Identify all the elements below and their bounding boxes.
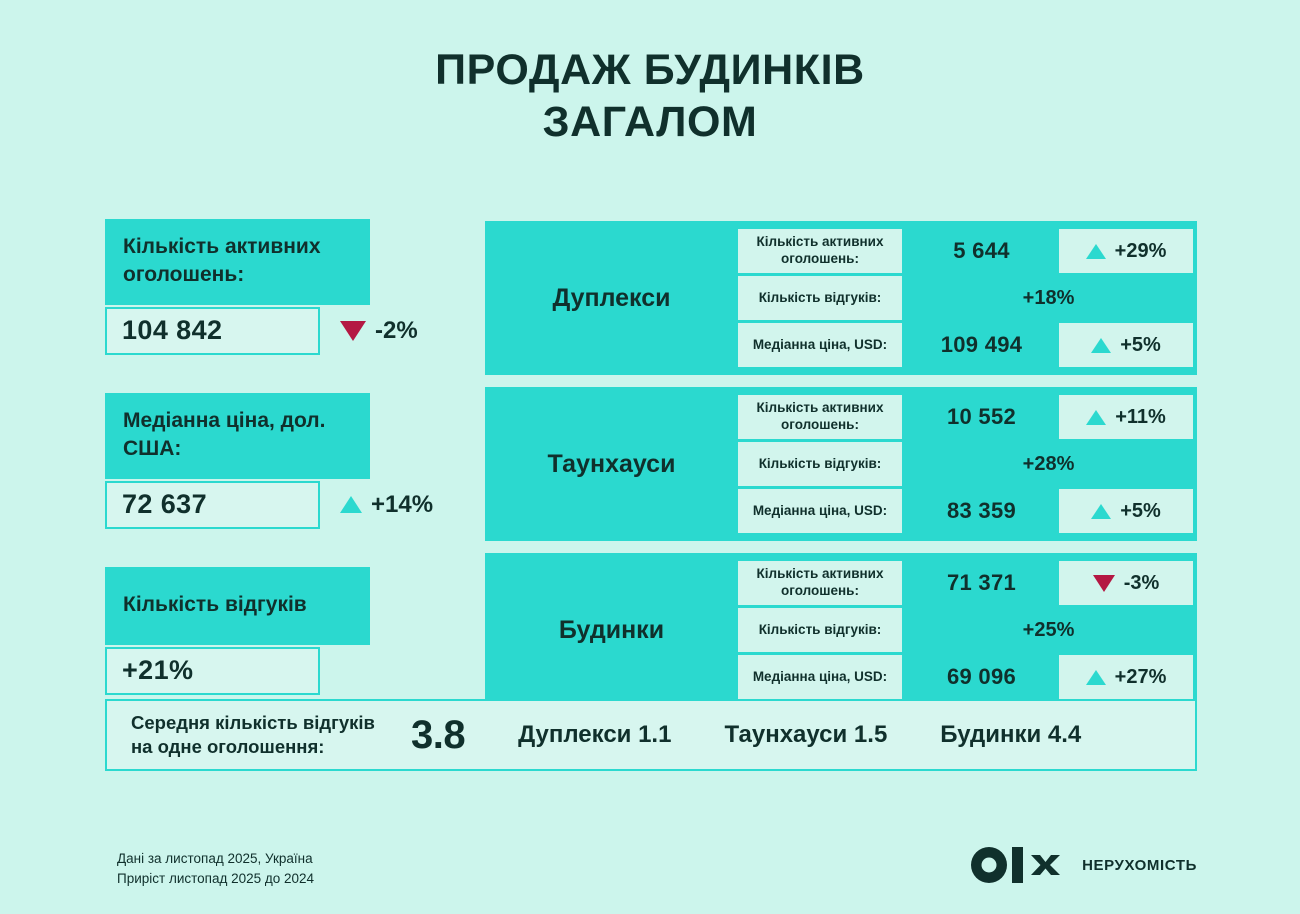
row-value: +18% — [904, 276, 1193, 320]
olx-logo-word: НЕРУХОМІСТЬ — [1082, 857, 1197, 874]
olx-logo-icon — [969, 845, 1069, 885]
table-row: Кількість відгуків: +25% — [738, 608, 1193, 652]
arrow-up-icon — [1091, 504, 1111, 519]
row-label: Кількість активних оголошень: — [738, 395, 902, 439]
row-delta-label: +29% — [1115, 240, 1167, 263]
category-card-houses: Будинки Кількість активних оголошень: 71… — [485, 553, 1197, 707]
summary-block-responses: Кількість відгуків +21% — [105, 567, 445, 695]
row-delta-label: -3% — [1124, 572, 1160, 595]
footnote-line-2: Приріст листопад 2025 до 2024 — [117, 869, 314, 889]
row-delta-label: +11% — [1115, 406, 1166, 429]
average-responses-bar: Середня кількість відгуків на одне оголо… — [105, 699, 1197, 771]
row-delta-label: +5% — [1120, 500, 1161, 523]
row-label: Медіанна ціна, USD: — [738, 489, 902, 533]
summary-panel: Кількість активних оголошень: 104 842 -2… — [105, 219, 445, 695]
category-rows: Кількість активних оголошень: 5 644 +29%… — [738, 229, 1193, 367]
row-value: 109 494 — [904, 323, 1059, 367]
summary-value-row: 72 637 +14% — [105, 481, 445, 529]
summary-block-active-listings: Кількість активних оголошень: 104 842 -2… — [105, 219, 445, 355]
row-value: 69 096 — [904, 655, 1059, 699]
footnote: Дані за листопад 2025, Україна Приріст л… — [117, 849, 314, 888]
summary-value: 72 637 — [105, 481, 320, 529]
row-delta-label: +5% — [1120, 334, 1161, 357]
summary-value-row: +21% — [105, 647, 445, 695]
row-delta: +27% — [1059, 655, 1193, 699]
category-name: Дуплекси — [485, 229, 738, 367]
summary-delta-label: +14% — [371, 491, 433, 519]
row-label: Медіанна ціна, USD: — [738, 323, 902, 367]
summary-label: Кількість активних оголошень: — [105, 219, 370, 305]
category-rows: Кількість активних оголошень: 71 371 -3%… — [738, 561, 1193, 699]
summary-value: +21% — [105, 647, 320, 695]
page-title: ПРОДАЖ БУДИНКІВ ЗАГАЛОМ — [0, 44, 1300, 149]
row-delta: +29% — [1059, 229, 1193, 273]
arrow-up-icon — [1091, 338, 1111, 353]
average-responses-houses: Будинки 4.4 — [940, 721, 1081, 749]
category-card-townhouses: Таунхауси Кількість активних оголошень: … — [485, 387, 1197, 541]
page-title-line-2: ЗАГАЛОМ — [0, 96, 1300, 148]
row-value: 71 371 — [904, 561, 1059, 605]
table-row: Кількість відгуків: +18% — [738, 276, 1193, 320]
row-label: Кількість активних оголошень: — [738, 229, 902, 273]
category-name: Таунхауси — [485, 395, 738, 533]
table-row: Медіанна ціна, USD: 83 359 +5% — [738, 489, 1193, 533]
row-delta: +5% — [1059, 323, 1193, 367]
arrow-up-icon — [1086, 410, 1106, 425]
row-delta-label: +27% — [1115, 666, 1167, 689]
average-responses-duplexes: Дуплекси 1.1 — [518, 721, 671, 749]
row-value: 5 644 — [904, 229, 1059, 273]
summary-label: Кількість відгуків — [105, 567, 370, 645]
row-value: 83 359 — [904, 489, 1059, 533]
table-row: Медіанна ціна, USD: 69 096 +27% — [738, 655, 1193, 699]
category-name: Будинки — [485, 561, 738, 699]
average-responses-label-line-1: Середня кількість відгуків — [131, 711, 403, 735]
average-responses-townhouses: Таунхауси 1.5 — [724, 721, 887, 749]
row-value: 10 552 — [904, 395, 1059, 439]
table-row: Кількість активних оголошень: 5 644 +29% — [738, 229, 1193, 273]
category-cards: Дуплекси Кількість активних оголошень: 5… — [485, 221, 1197, 707]
row-label: Кількість відгуків: — [738, 608, 902, 652]
table-row: Кількість активних оголошень: 10 552 +11… — [738, 395, 1193, 439]
summary-delta: -2% — [340, 317, 418, 345]
summary-label: Медіанна ціна, дол. США: — [105, 393, 370, 479]
arrow-up-icon — [1086, 670, 1106, 685]
arrow-down-icon — [1093, 575, 1115, 592]
row-label: Кількість відгуків: — [738, 442, 902, 486]
row-delta: +11% — [1059, 395, 1193, 439]
olx-logo: НЕРУХОМІСТЬ — [969, 845, 1197, 885]
footnote-line-1: Дані за листопад 2025, Україна — [117, 849, 314, 869]
row-value: +25% — [904, 608, 1193, 652]
average-responses-overall: 3.8 — [411, 713, 465, 758]
summary-delta-label: -2% — [375, 317, 418, 345]
table-row: Кількість відгуків: +28% — [738, 442, 1193, 486]
row-value: +28% — [904, 442, 1193, 486]
row-delta: +5% — [1059, 489, 1193, 533]
page-title-line-1: ПРОДАЖ БУДИНКІВ — [0, 44, 1300, 96]
arrow-down-icon — [340, 321, 366, 341]
category-card-duplexes: Дуплекси Кількість активних оголошень: 5… — [485, 221, 1197, 375]
arrow-up-icon — [1086, 244, 1106, 259]
row-delta: -3% — [1059, 561, 1193, 605]
summary-value-row: 104 842 -2% — [105, 307, 445, 355]
row-label: Кількість відгуків: — [738, 276, 902, 320]
summary-value: 104 842 — [105, 307, 320, 355]
arrow-up-icon — [340, 496, 362, 513]
table-row: Кількість активних оголошень: 71 371 -3% — [738, 561, 1193, 605]
average-responses-label-line-2: на одне оголошення: — [131, 735, 403, 759]
summary-delta: +14% — [340, 491, 433, 519]
row-label: Медіанна ціна, USD: — [738, 655, 902, 699]
average-responses-label: Середня кількість відгуків на одне оголо… — [131, 711, 403, 759]
category-rows: Кількість активних оголошень: 10 552 +11… — [738, 395, 1193, 533]
summary-block-median-price: Медіанна ціна, дол. США: 72 637 +14% — [105, 393, 445, 529]
table-row: Медіанна ціна, USD: 109 494 +5% — [738, 323, 1193, 367]
row-label: Кількість активних оголошень: — [738, 561, 902, 605]
